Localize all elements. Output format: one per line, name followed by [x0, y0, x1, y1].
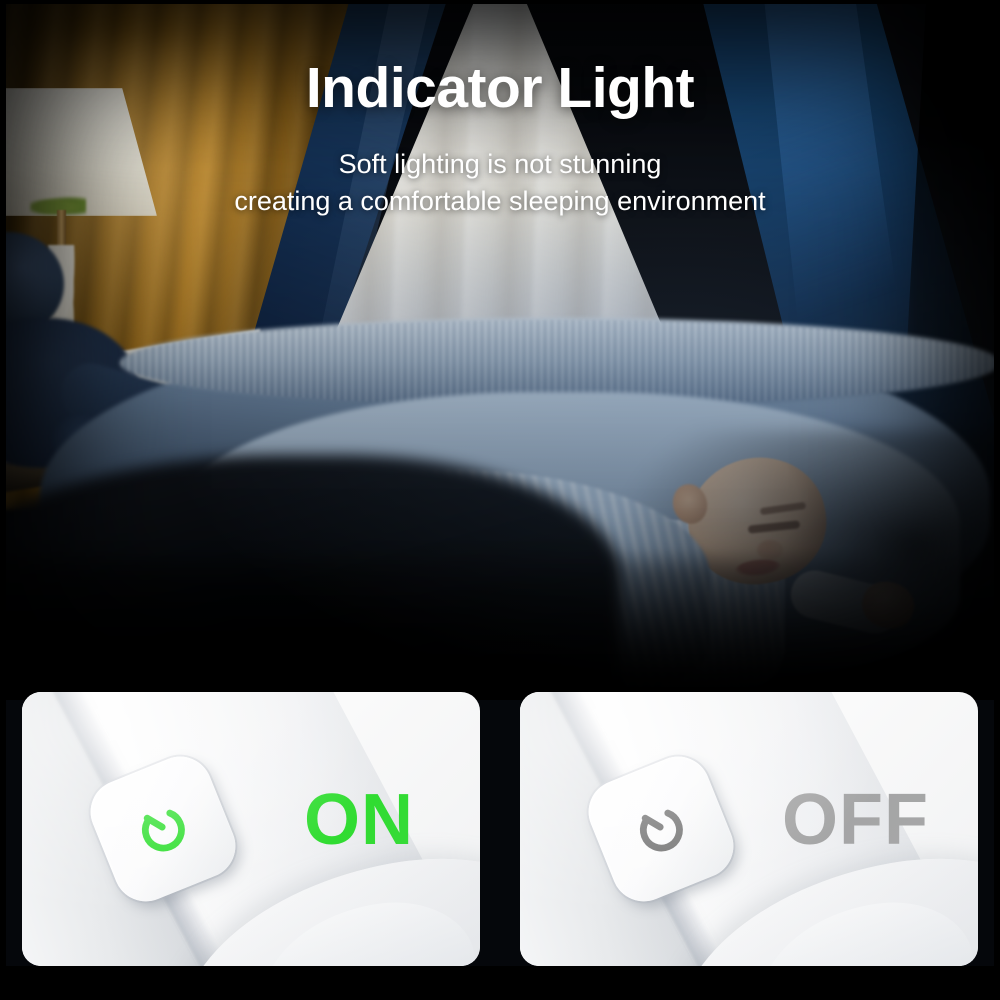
headline-block: Indicator Light Soft lighting is not stu… [0, 58, 1000, 219]
state-cards: ON OFF [0, 692, 1000, 966]
frame-right [994, 0, 1000, 1000]
state-label-on: ON [304, 784, 414, 856]
frame-bottom [0, 966, 1000, 1000]
subtitle-line-2: creating a comfortable sleeping environm… [0, 183, 1000, 219]
frame-left [0, 0, 6, 1000]
indicator-card-off[interactable]: OFF [520, 692, 978, 966]
page-title: Indicator Light [0, 58, 1000, 118]
power-icon [617, 785, 706, 874]
state-label-off: OFF [782, 784, 929, 856]
subtitle-line-1: Soft lighting is not stunning [0, 146, 1000, 182]
power-icon [119, 785, 208, 874]
product-feature-banner: Indicator Light Soft lighting is not stu… [0, 0, 1000, 1000]
frame-top [0, 0, 1000, 4]
indicator-card-on[interactable]: ON [22, 692, 480, 966]
